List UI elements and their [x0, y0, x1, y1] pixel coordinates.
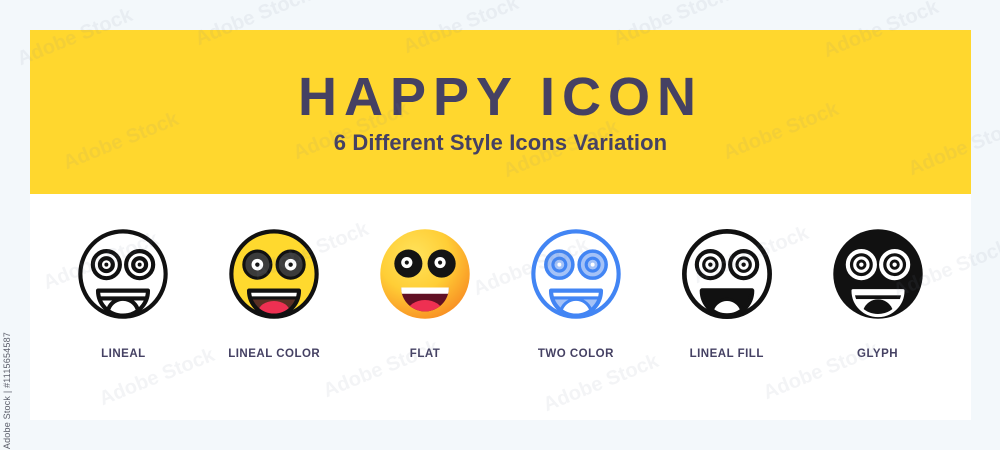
stock-credit-watermark: Adobe Stock | #1115654587	[2, 332, 12, 449]
page-subtitle: 6 Different Style Icons Variation	[334, 132, 667, 154]
icon-label-glyph: GLYPH	[857, 348, 898, 360]
icon-cell-lineal[interactable]: LINEAL	[49, 222, 197, 360]
happy-face-lineal-color-icon[interactable]	[222, 222, 326, 326]
icon-cell-lineal-color[interactable]: LINEAL COLOR	[200, 222, 348, 360]
page-title: HAPPY ICON	[298, 70, 703, 124]
icon-label-lineal-fill: LINEAL FILL	[690, 348, 764, 360]
happy-face-lineal-icon[interactable]	[71, 222, 175, 326]
icon-cell-flat[interactable]: FLAT	[351, 222, 499, 360]
happy-face-lineal-fill-icon[interactable]	[675, 222, 779, 326]
happy-face-glyph-icon[interactable]	[826, 222, 930, 326]
icon-variations-row: LINEAL	[30, 194, 971, 420]
happy-face-flat-icon[interactable]	[373, 222, 477, 326]
icon-label-two-color: TWO COLOR	[538, 348, 614, 360]
icon-label-lineal: LINEAL	[101, 348, 146, 360]
icon-label-lineal-color: LINEAL COLOR	[228, 348, 320, 360]
happy-face-two-color-icon[interactable]	[524, 222, 628, 326]
icon-cell-glyph[interactable]: GLYPH	[804, 222, 952, 360]
icon-cell-lineal-fill[interactable]: LINEAL FILL	[653, 222, 801, 360]
icon-cell-two-color[interactable]: TWO COLOR	[502, 222, 650, 360]
header-banner: HAPPY ICON 6 Different Style Icons Varia…	[30, 30, 971, 194]
icon-label-flat: FLAT	[410, 348, 441, 360]
icon-showcase-panel: LINEAL	[30, 194, 971, 420]
